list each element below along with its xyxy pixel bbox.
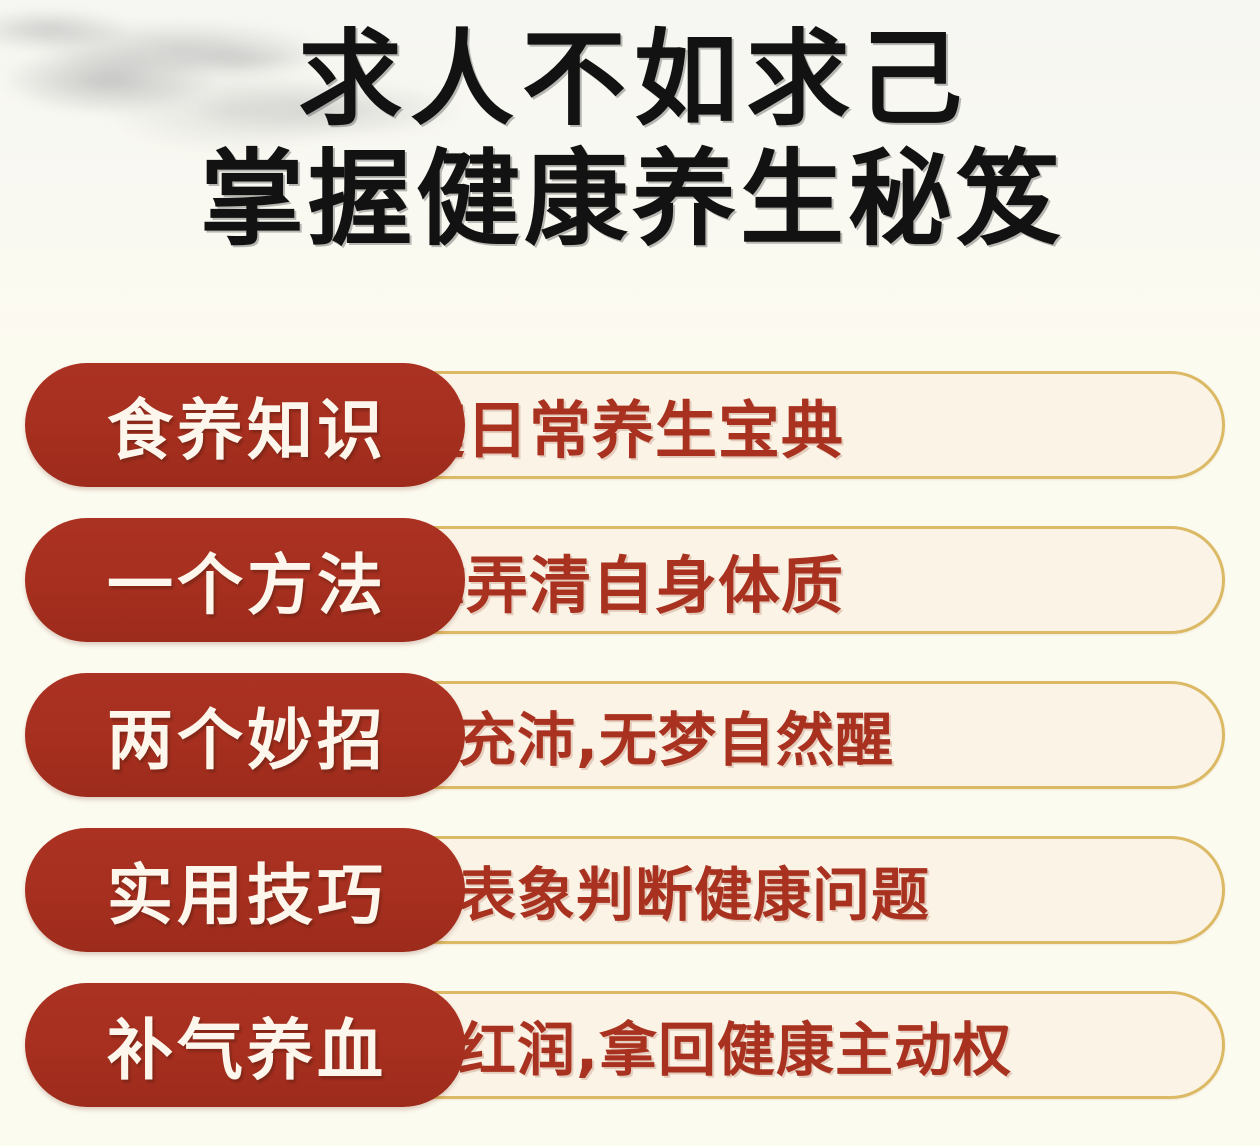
page-title: 求人不如求己 掌握健康养生秘笈: [0, 20, 1260, 260]
feature-badge-label-2: 一个方法: [103, 532, 387, 628]
feature-badge-label-3: 两个妙招: [103, 687, 387, 783]
feature-badge-3: 两个妙招: [25, 673, 465, 797]
list-item: 精力充沛,无梦自然醒 两个妙招: [0, 673, 1260, 797]
feature-badge-4: 实用技巧: [25, 828, 465, 952]
list-item: 家庭日常养生宝典 食养知识: [0, 363, 1260, 487]
feature-badge-2: 一个方法: [25, 518, 465, 642]
feature-badge-label-1: 食养知识: [103, 377, 387, 473]
feature-description-5: 面色红润,拿回健康主动权: [340, 991, 1220, 1099]
feature-description-2: 让你弄清自身体质: [340, 526, 1220, 634]
feature-description-3: 精力充沛,无梦自然醒: [340, 681, 1220, 789]
feature-badge-label-4: 实用技巧: [103, 842, 387, 938]
feature-description-1: 家庭日常养生宝典: [340, 371, 1220, 479]
poster-canvas: 求人不如求己 掌握健康养生秘笈 家庭日常养生宝典 食养知识 让你弄清自身体质 一…: [0, 0, 1260, 1146]
feature-description-4: 身体表象判断健康问题: [340, 836, 1220, 944]
page-title-line-1: 求人不如求己: [0, 20, 1260, 138]
feature-badge-label-5: 补气养血: [103, 997, 387, 1093]
list-item: 面色红润,拿回健康主动权 补气养血: [0, 983, 1260, 1107]
feature-list: 家庭日常养生宝典 食养知识 让你弄清自身体质 一个方法 精力充沛,无梦自然醒 两…: [0, 363, 1260, 1138]
feature-badge-5: 补气养血: [25, 983, 465, 1107]
list-item: 让你弄清自身体质 一个方法: [0, 518, 1260, 642]
list-item: 身体表象判断健康问题 实用技巧: [0, 828, 1260, 952]
feature-badge-1: 食养知识: [25, 363, 465, 487]
page-title-line-2: 掌握健康养生秘笈: [0, 138, 1260, 260]
